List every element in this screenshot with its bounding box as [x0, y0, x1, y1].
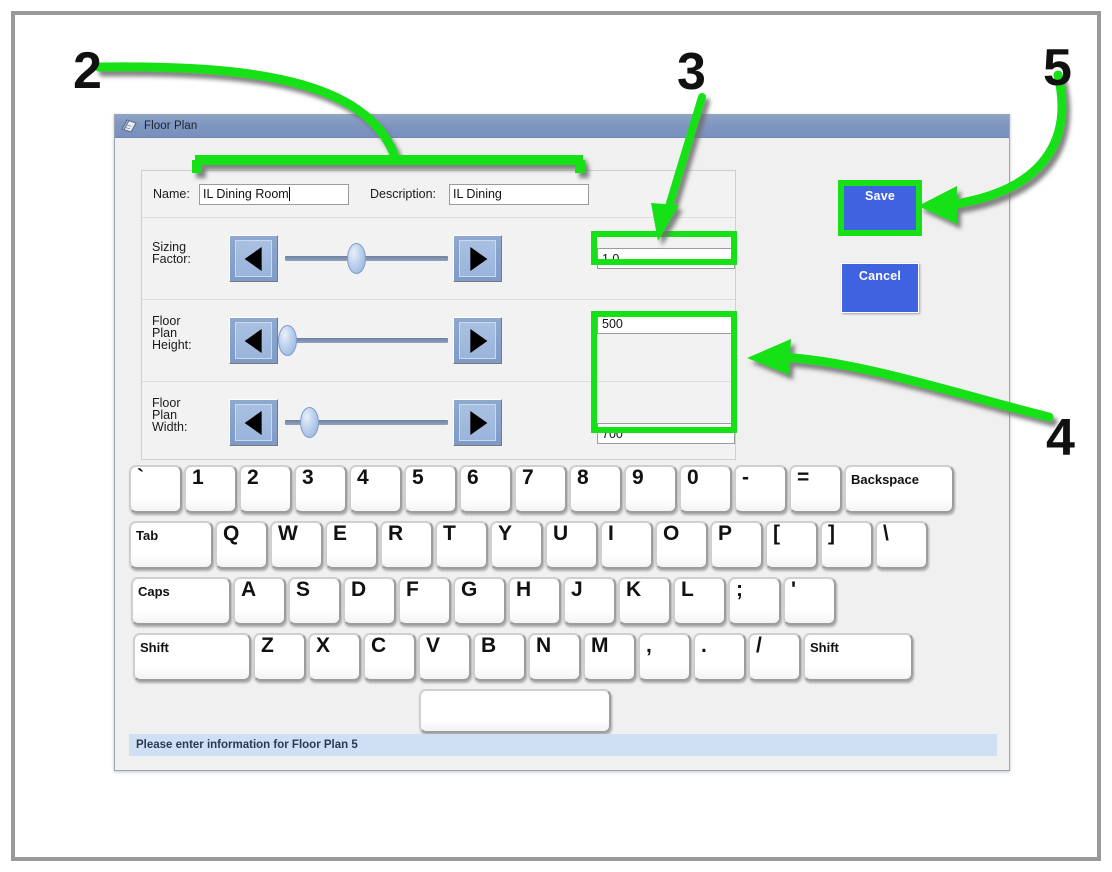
floor-plan-width-label: Floor Plan Width:	[152, 397, 187, 433]
status-message: Please enter information for Floor Plan …	[129, 739, 358, 751]
left-arrow-icon[interactable]	[229, 317, 278, 364]
annotation-number-3: 3	[677, 46, 706, 98]
key-label: M	[591, 636, 609, 656]
key-label: ;	[736, 580, 743, 600]
key-i[interactable]: I	[600, 521, 653, 569]
key-sym[interactable]: .	[693, 633, 746, 681]
key-label: Shift	[810, 638, 839, 658]
key-8[interactable]: 8	[569, 465, 622, 513]
key-label: O	[663, 524, 679, 544]
key-6[interactable]: 6	[459, 465, 512, 513]
key-m[interactable]: M	[583, 633, 636, 681]
key-label: '	[791, 580, 796, 600]
key-label: 1	[192, 468, 204, 488]
key-u[interactable]: U	[545, 521, 598, 569]
key-j[interactable]: J	[563, 577, 616, 625]
key-label: G	[461, 580, 477, 600]
cancel-button[interactable]: Cancel	[841, 263, 919, 313]
key-4[interactable]: 4	[349, 465, 402, 513]
key-y[interactable]: Y	[490, 521, 543, 569]
key-z[interactable]: Z	[253, 633, 306, 681]
floor-plan-height-slider-thumb[interactable]	[278, 325, 297, 356]
description-input-value: IL Dining	[453, 185, 502, 203]
key-e[interactable]: E	[325, 521, 378, 569]
right-arrow-icon[interactable]	[453, 399, 502, 446]
key-label: D	[351, 580, 366, 600]
key-space[interactable]	[419, 689, 611, 733]
key-label: Z	[261, 636, 274, 656]
name-input[interactable]: IL Dining Room	[199, 184, 349, 205]
sizing-factor-value-input[interactable]: 1.0	[597, 248, 735, 269]
floor-plan-height-value: 500	[602, 317, 623, 331]
key-label: 2	[247, 468, 259, 488]
key-t[interactable]: T	[435, 521, 488, 569]
sizing-factor-slider-track[interactable]	[285, 256, 448, 261]
key-label: B	[481, 636, 496, 656]
key-label: K	[626, 580, 641, 600]
key-o[interactable]: O	[655, 521, 708, 569]
description-label: Description:	[370, 187, 436, 201]
key-sym[interactable]: ]	[820, 521, 873, 569]
key-v[interactable]: V	[418, 633, 471, 681]
key-k[interactable]: K	[618, 577, 671, 625]
key-label: R	[388, 524, 403, 544]
annotation-number-4: 4	[1046, 412, 1075, 464]
floor-plan-width-value-input[interactable]: 700	[597, 423, 735, 444]
key-n[interactable]: N	[528, 633, 581, 681]
key-1[interactable]: 1	[184, 465, 237, 513]
key-label: S	[296, 580, 310, 600]
key-label: 5	[412, 468, 424, 488]
on-screen-keyboard: `1234567890-=BackspaceTabQWERTYUIOP[]\Ca…	[129, 465, 999, 735]
notebook-icon	[120, 118, 138, 134]
key-label: 3	[302, 468, 314, 488]
key-0[interactable]: 0	[679, 465, 732, 513]
key-label: `	[137, 468, 144, 488]
key-9[interactable]: 9	[624, 465, 677, 513]
key-g[interactable]: G	[453, 577, 506, 625]
key-f[interactable]: F	[398, 577, 451, 625]
sizing-factor-value: 1.0	[602, 252, 619, 266]
key-p[interactable]: P	[710, 521, 763, 569]
name-description-row: Name: IL Dining Room Description: IL Din…	[142, 171, 735, 217]
key-3[interactable]: 3	[294, 465, 347, 513]
key-label: I	[608, 524, 614, 544]
key-label: 4	[357, 468, 369, 488]
key-5[interactable]: 5	[404, 465, 457, 513]
key-label: \	[883, 524, 889, 544]
floor-plan-height-slider-track[interactable]	[285, 338, 448, 343]
key-label: C	[371, 636, 386, 656]
key-label: A	[241, 580, 256, 600]
right-arrow-icon[interactable]	[453, 317, 502, 364]
key-label: .	[701, 636, 707, 656]
key-sym[interactable]: '	[783, 577, 836, 625]
floor-plan-width-row: Floor Plan Width: 700	[142, 382, 735, 463]
key-tab[interactable]: Tab	[129, 521, 213, 569]
key-w[interactable]: W	[270, 521, 323, 569]
floor-plan-height-label: Floor Plan Height:	[152, 315, 192, 351]
key-label: E	[333, 524, 347, 544]
name-label: Name:	[153, 187, 199, 201]
key-s[interactable]: S	[288, 577, 341, 625]
key-caps[interactable]: Caps	[131, 577, 231, 625]
key-sym[interactable]: \	[875, 521, 928, 569]
key-label: 9	[632, 468, 644, 488]
text-caret	[289, 187, 290, 201]
key-label: ,	[646, 636, 652, 656]
key-shift[interactable]: Shift	[803, 633, 913, 681]
key-label: X	[316, 636, 330, 656]
key-label: ]	[828, 524, 835, 544]
key-label: P	[718, 524, 732, 544]
key-q[interactable]: Q	[215, 521, 268, 569]
title-bar: Floor Plan	[115, 115, 1009, 138]
key-7[interactable]: 7	[514, 465, 567, 513]
key-label: T	[443, 524, 456, 544]
left-arrow-icon[interactable]	[229, 399, 278, 446]
key-label: L	[681, 580, 694, 600]
key-label: J	[571, 580, 583, 600]
key-2[interactable]: 2	[239, 465, 292, 513]
sizing-factor-row: Sizing Factor: 1.0	[142, 218, 735, 299]
key-label: -	[742, 468, 749, 488]
key-label: H	[516, 580, 531, 600]
floor-plan-height-row: Floor Plan Height: 500	[142, 300, 735, 381]
key-sym[interactable]: ;	[728, 577, 781, 625]
key-sym[interactable]: -	[734, 465, 787, 513]
key-l[interactable]: L	[673, 577, 726, 625]
key-label: Shift	[140, 638, 169, 658]
page-frame: Floor Plan Name: IL Dining Room Descript…	[0, 0, 1112, 872]
key-label: N	[536, 636, 551, 656]
annotation-number-2: 2	[73, 45, 102, 97]
key-shift[interactable]: Shift	[133, 633, 251, 681]
floor-plan-dialog: Floor Plan Name: IL Dining Room Descript…	[114, 114, 1010, 771]
key-label: U	[553, 524, 568, 544]
key-label: V	[426, 636, 440, 656]
key-h[interactable]: H	[508, 577, 561, 625]
annotation-number-5: 5	[1043, 42, 1072, 94]
key-label: Y	[498, 524, 512, 544]
key-r[interactable]: R	[380, 521, 433, 569]
floor-plan-width-slider-thumb[interactable]	[300, 407, 319, 438]
key-label: [	[773, 524, 780, 544]
key-sym[interactable]: /	[748, 633, 801, 681]
description-input[interactable]: IL Dining	[449, 184, 589, 205]
floor-plan-width-value: 700	[602, 427, 623, 441]
key-d[interactable]: D	[343, 577, 396, 625]
key-x[interactable]: X	[308, 633, 361, 681]
status-bar: Please enter information for Floor Plan …	[129, 734, 997, 756]
key-label: Backspace	[851, 470, 919, 490]
key-label: Q	[223, 524, 239, 544]
key-sym[interactable]: `	[129, 465, 182, 513]
key-label: /	[756, 636, 762, 656]
form-panel: Name: IL Dining Room Description: IL Din…	[141, 170, 736, 460]
key-sym[interactable]: [	[765, 521, 818, 569]
key-a[interactable]: A	[233, 577, 286, 625]
window-title: Floor Plan	[144, 120, 197, 132]
key-label: 7	[522, 468, 534, 488]
key-label: 8	[577, 468, 589, 488]
key-sym[interactable]: ,	[638, 633, 691, 681]
key-label: W	[278, 524, 298, 544]
key-label: F	[406, 580, 419, 600]
key-c[interactable]: C	[363, 633, 416, 681]
key-sym[interactable]: =	[789, 465, 842, 513]
key-label: 0	[687, 468, 699, 488]
key-label: Caps	[138, 582, 170, 602]
key-b[interactable]: B	[473, 633, 526, 681]
key-label: =	[797, 468, 809, 488]
sizing-factor-label: Sizing Factor:	[152, 241, 191, 265]
sizing-factor-slider-thumb[interactable]	[347, 243, 366, 274]
key-label: Tab	[136, 526, 158, 546]
key-label: 6	[467, 468, 479, 488]
canvas: Floor Plan Name: IL Dining Room Descript…	[17, 17, 1107, 867]
right-arrow-icon[interactable]	[453, 235, 502, 282]
left-arrow-icon[interactable]	[229, 235, 278, 282]
name-input-value: IL Dining Room	[203, 185, 289, 203]
save-button[interactable]: Save	[841, 183, 919, 233]
floor-plan-height-value-input[interactable]: 500	[597, 313, 735, 334]
key-backspace[interactable]: Backspace	[844, 465, 954, 513]
